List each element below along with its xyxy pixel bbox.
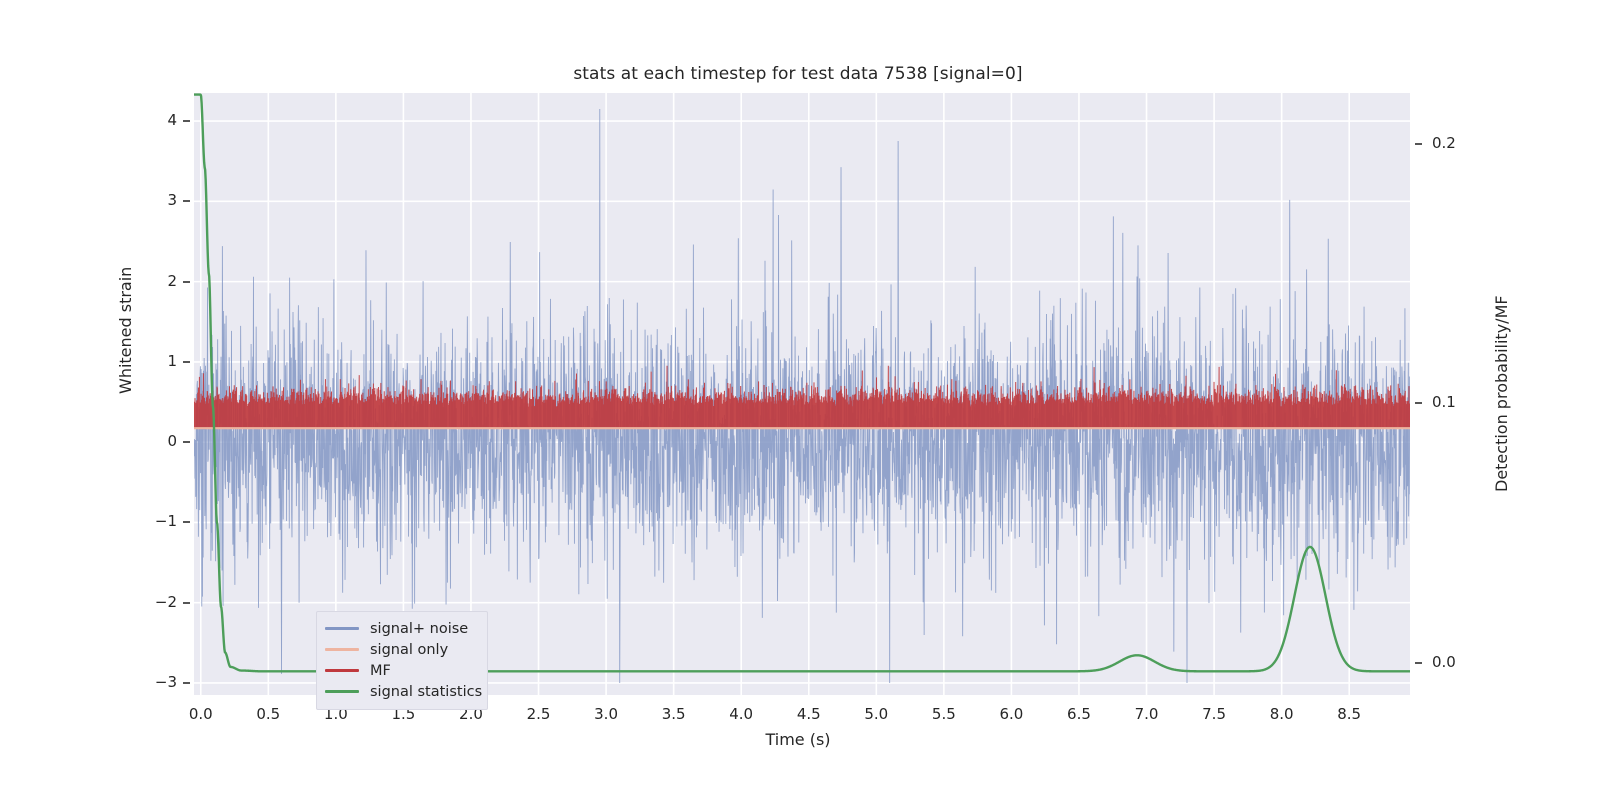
legend-label-2: MF (370, 663, 391, 679)
x-tick-label: 5.5 (914, 705, 974, 723)
y-tick-mark-left (183, 200, 190, 202)
legend-item-signal-statistics: signal statistics (325, 681, 479, 702)
y-tick-mark-left (183, 521, 190, 523)
x-tick-label: 3.5 (644, 705, 704, 723)
y-tick-mark-right (1415, 402, 1422, 404)
x-tick-label: 8.5 (1319, 705, 1379, 723)
x-tick-label: 6.5 (1049, 705, 1109, 723)
legend-label-0: signal+ noise (370, 621, 468, 637)
x-tick-label: 7.0 (1117, 705, 1177, 723)
x-tick-label: 0.0 (171, 705, 231, 723)
y-tick-mark-left (183, 602, 190, 604)
x-tick-label: 7.5 (1184, 705, 1244, 723)
legend-swatch-0 (325, 627, 359, 630)
x-tick-label: 6.0 (981, 705, 1041, 723)
chart-legend: signal+ noisesignal onlyMFsignal statist… (316, 611, 488, 710)
y-tick-label-left: 4 (137, 111, 177, 129)
y-tick-mark-left (183, 682, 190, 684)
legend-swatch-1 (325, 648, 359, 651)
x-axis-label: Time (s) (0, 730, 1600, 749)
y-tick-mark-left (183, 281, 190, 283)
x-tick-label: 3.0 (576, 705, 636, 723)
legend-label-1: signal only (370, 642, 448, 658)
x-tick-label: 0.5 (238, 705, 298, 723)
plot-axes (194, 93, 1410, 695)
y-tick-label-right: 0.0 (1432, 653, 1492, 671)
y-axis-label-right: Detection probability/MF (1492, 295, 1511, 492)
y-tick-label-left: −2 (137, 593, 177, 611)
legend-swatch-2 (325, 669, 359, 672)
plot-drawing-area (194, 93, 1410, 695)
legend-item-signal-noise: signal+ noise (325, 618, 479, 639)
x-tick-label: 5.0 (846, 705, 906, 723)
x-tick-label: 8.0 (1252, 705, 1312, 723)
y-tick-label-left: 2 (137, 272, 177, 290)
y-tick-label-left: −1 (137, 512, 177, 530)
chart-title: stats at each timestep for test data 753… (0, 64, 1600, 84)
legend-item-signal-only: signal only (325, 639, 479, 660)
legend-item-mf: MF (325, 660, 479, 681)
figure-canvas: stats at each timestep for test data 753… (0, 0, 1600, 800)
y-tick-label-left: −3 (137, 673, 177, 691)
y-tick-mark-left (183, 441, 190, 443)
y-tick-label-right: 0.2 (1432, 134, 1492, 152)
y-tick-mark-right (1415, 143, 1422, 145)
y-tick-label-left: 3 (137, 191, 177, 209)
y-tick-mark-right (1415, 662, 1422, 664)
y-axis-label-left: Whitened strain (116, 267, 135, 394)
y-tick-label-left: 1 (137, 352, 177, 370)
legend-swatch-3 (325, 690, 359, 693)
y-tick-label-right: 0.1 (1432, 393, 1492, 411)
y-tick-mark-left (183, 361, 190, 363)
x-tick-label: 4.5 (779, 705, 839, 723)
x-tick-label: 2.5 (509, 705, 569, 723)
legend-label-3: signal statistics (370, 684, 482, 700)
y-tick-mark-left (183, 120, 190, 122)
y-tick-label-left: 0 (137, 432, 177, 450)
x-tick-label: 4.0 (711, 705, 771, 723)
